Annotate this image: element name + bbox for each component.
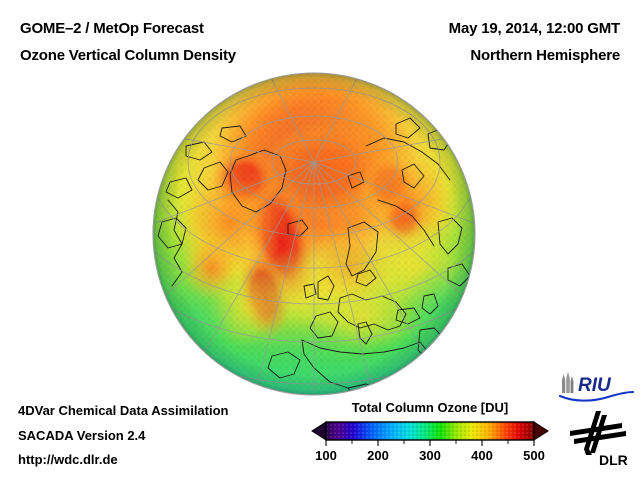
- ozone-forecast-figure: GOME–2 / MetOp Forecast Ozone Vertical C…: [0, 0, 640, 480]
- dlr-logo: DLR: [566, 409, 632, 467]
- colorbar-extend-max-arrow: [534, 422, 548, 440]
- riu-logo: RIU: [558, 371, 634, 403]
- dlr-wing-icon: [570, 411, 626, 455]
- credit-version: SACADA Version 2.4: [18, 428, 145, 443]
- globe-orthographic-projection: [152, 72, 476, 396]
- colorbar-tick-label: 400: [471, 448, 493, 463]
- colorbar-tick-label: 500: [523, 448, 545, 463]
- colorbar: Total Column Ozone [DU] 100200300400500: [310, 400, 550, 470]
- colorbar-scale: [310, 420, 550, 448]
- map-region-label: Northern Hemisphere: [470, 47, 620, 64]
- riu-tower-icon: [562, 372, 573, 393]
- credit-method: 4DVar Chemical Data Assimilation: [18, 403, 229, 418]
- product-title: Ozone Vertical Column Density: [20, 47, 236, 64]
- dlr-wordmark: DLR: [599, 452, 628, 467]
- riu-wordmark: RIU: [578, 375, 612, 396]
- instrument-title: GOME–2 / MetOp Forecast: [20, 20, 204, 37]
- colorbar-tick-label: 200: [367, 448, 389, 463]
- colorbar-ticks: [326, 440, 534, 446]
- globe-data-layer: [152, 72, 476, 396]
- colorbar-tick-label: 100: [315, 448, 337, 463]
- limb-shading: [153, 73, 475, 395]
- credit-url: http://wdc.dlr.de: [18, 452, 118, 467]
- colorbar-tick-labels: 100200300400500: [310, 448, 550, 468]
- colorbar-extend-min-arrow: [312, 422, 326, 440]
- colorbar-title: Total Column Ozone [DU]: [310, 400, 550, 415]
- colorbar-tick-label: 300: [419, 448, 441, 463]
- forecast-datetime: May 19, 2014, 12:00 GMT: [449, 20, 620, 37]
- globe-map: [152, 72, 476, 396]
